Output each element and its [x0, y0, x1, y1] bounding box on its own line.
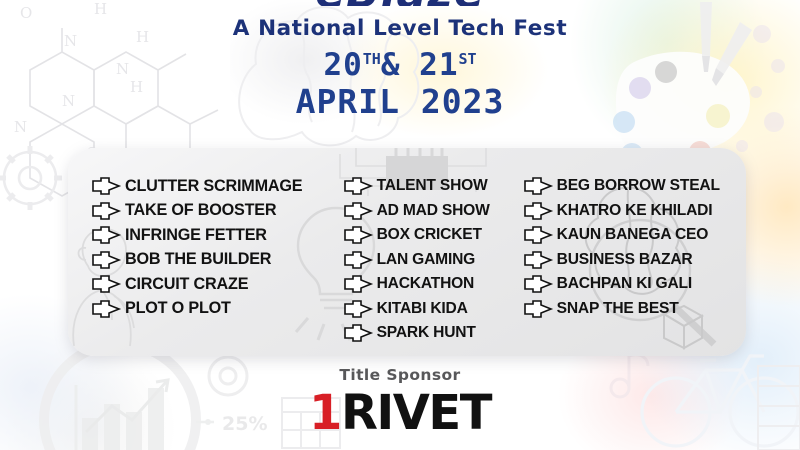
fest-logo-title: eBlaze	[0, 0, 800, 6]
date-day-two: 21	[419, 47, 458, 83]
event-label: BACHPAN KI GALI	[557, 275, 692, 293]
event-label: SPARK HUNT	[377, 324, 476, 342]
fest-date-days: 20TH& 21ST	[0, 50, 800, 81]
arrow-right-icon	[92, 300, 122, 318]
event-item[interactable]: TALENT SHOW	[344, 174, 516, 199]
arrow-right-icon	[524, 251, 554, 269]
date-ampersand: &	[381, 47, 400, 83]
event-label: SNAP THE BEST	[557, 300, 679, 318]
events-column-2: TALENT SHOW AD MAD SHOW BOX CRICKET LAN …	[336, 174, 516, 356]
event-item[interactable]: BEG BORROW STEAL	[524, 174, 746, 199]
arrow-right-icon	[92, 275, 122, 293]
svg-text:N: N	[14, 118, 27, 136]
events-column-1: CLUTTER SCRIMMAGE TAKE OF BOOSTER INFRIN…	[68, 174, 336, 356]
date-day-one-ordinal: TH	[363, 50, 381, 68]
arrow-right-icon	[92, 177, 122, 195]
arrow-right-icon	[92, 202, 122, 220]
event-label: LAN GAMING	[377, 251, 475, 269]
sponsor-label: Title Sponsor	[0, 366, 800, 384]
gear-icon	[0, 146, 62, 210]
fest-date-month-year: APRIL 2023	[0, 85, 800, 118]
sponsor-logo: 1RIVET	[0, 388, 800, 438]
arrow-right-icon	[344, 202, 374, 220]
events-panel: CLUTTER SCRIMMAGE TAKE OF BOOSTER INFRIN…	[68, 148, 746, 356]
arrow-right-icon	[524, 300, 554, 318]
event-item[interactable]: INFRINGE FETTER	[92, 223, 336, 248]
event-label: BOB THE BUILDER	[125, 250, 271, 269]
event-item[interactable]: AD MAD SHOW	[344, 199, 516, 224]
event-label: TALENT SHOW	[377, 177, 488, 195]
arrow-right-icon	[524, 226, 554, 244]
arrow-right-icon	[344, 275, 374, 293]
event-item[interactable]: PLOT O PLOT	[92, 297, 336, 322]
poster-header: eBlaze A National Level Tech Fest 20TH& …	[0, 0, 800, 118]
event-item[interactable]: LAN GAMING	[344, 248, 516, 273]
arrow-right-icon	[344, 226, 374, 244]
arrow-right-icon	[92, 226, 122, 244]
sponsor-logo-name: RIVET	[341, 385, 491, 441]
event-item[interactable]: KHATRO KE KHILADI	[524, 199, 746, 224]
arrow-right-icon	[344, 177, 374, 195]
sponsor-section: Title Sponsor 1RIVET	[0, 366, 800, 438]
event-item[interactable]: BACHPAN KI GALI	[524, 272, 746, 297]
tech-fest-poster: O H N H N H N N O	[0, 0, 800, 450]
event-item[interactable]: KAUN BANEGA CEO	[524, 223, 746, 248]
event-item[interactable]: CLUTTER SCRIMMAGE	[92, 174, 336, 199]
event-item[interactable]: SPARK HUNT	[344, 321, 516, 346]
event-label: BOX CRICKET	[377, 226, 482, 244]
event-label: KAUN BANEGA CEO	[557, 226, 709, 244]
arrow-right-icon	[524, 202, 554, 220]
arrow-right-icon	[524, 177, 554, 195]
event-item[interactable]: BOB THE BUILDER	[92, 248, 336, 273]
event-item[interactable]: SNAP THE BEST	[524, 297, 746, 322]
fest-tagline: A National Level Tech Fest	[0, 16, 800, 41]
arrow-right-icon	[524, 275, 554, 293]
event-label: BUSINESS BAZAR	[557, 251, 693, 269]
event-label: CIRCUIT CRAZE	[125, 275, 248, 294]
events-columns: CLUTTER SCRIMMAGE TAKE OF BOOSTER INFRIN…	[68, 148, 746, 356]
event-label: BEG BORROW STEAL	[557, 177, 720, 195]
events-column-3: BEG BORROW STEAL KHATRO KE KHILADI KAUN …	[516, 174, 746, 356]
event-item[interactable]: TAKE OF BOOSTER	[92, 199, 336, 224]
event-label: KHATRO KE KHILADI	[557, 202, 713, 220]
sponsor-logo-accent: 1	[309, 385, 341, 441]
event-item[interactable]: HACKATHON	[344, 272, 516, 297]
event-label: AD MAD SHOW	[377, 202, 490, 220]
arrow-right-icon	[344, 251, 374, 269]
date-day-one: 20	[323, 47, 362, 83]
arrow-right-icon	[344, 300, 374, 318]
event-label: CLUTTER SCRIMMAGE	[125, 177, 302, 196]
event-item[interactable]: KITABI KIDA	[344, 297, 516, 322]
event-label: PLOT O PLOT	[125, 299, 231, 318]
event-label: INFRINGE FETTER	[125, 226, 267, 245]
event-label: HACKATHON	[377, 275, 475, 293]
event-item[interactable]: BUSINESS BAZAR	[524, 248, 746, 273]
event-item[interactable]: CIRCUIT CRAZE	[92, 272, 336, 297]
arrow-right-icon	[344, 324, 374, 342]
event-label: TAKE OF BOOSTER	[125, 201, 276, 220]
arrow-right-icon	[92, 251, 122, 269]
date-day-two-ordinal: ST	[459, 50, 477, 68]
event-label: KITABI KIDA	[377, 300, 468, 318]
event-item[interactable]: BOX CRICKET	[344, 223, 516, 248]
